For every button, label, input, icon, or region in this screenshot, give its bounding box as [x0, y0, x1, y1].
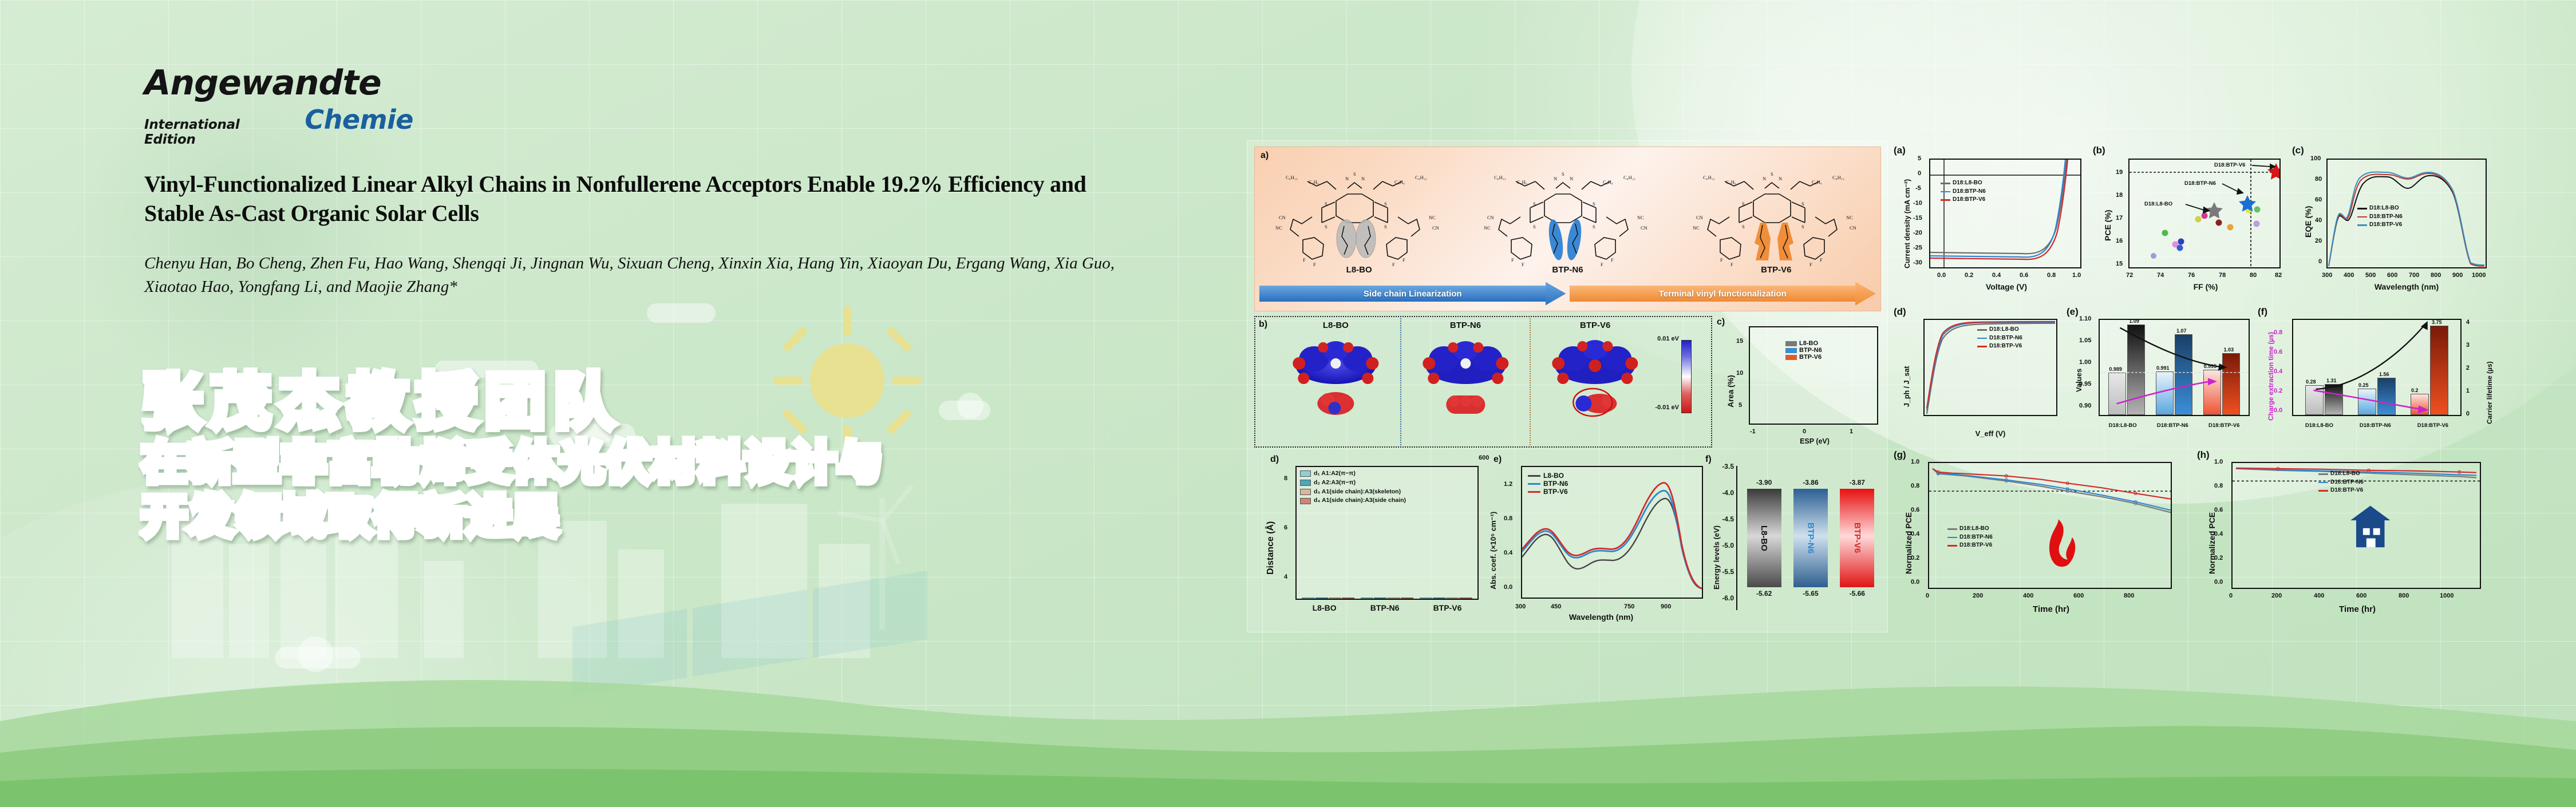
graphical-abstract-figure: a) [1247, 140, 2495, 638]
figure-left-group: a) [1247, 140, 1888, 632]
esp-column-btpv6: BTP-V6 [1530, 318, 1660, 445]
arrow-terminal-vinyl-functionalization: Terminal vinyl functionalization [1570, 281, 1876, 306]
material-label: BTP-V6 [1852, 523, 1862, 553]
panel-b2-ytick: 16 [2116, 238, 2123, 244]
panel-e-xtick: 600 [1479, 454, 1489, 461]
panel-f2-trend-arrows [2293, 320, 2460, 415]
panel-h-ytick: 0.2 [2214, 555, 2223, 561]
svg-text:CN: CN [1487, 215, 1494, 220]
panel-g-ytick: 0.6 [1911, 507, 1919, 513]
legend-item: D18:BTP-N6 [1947, 533, 1993, 542]
panel-g-ytick: 0.0 [1911, 579, 1919, 586]
panel-a2-curves [1930, 160, 2080, 267]
panel-b2-xtick: 72 [2126, 272, 2133, 279]
panel-d2-ylabel: J_ph / J_sat [1903, 366, 1911, 407]
panel-h-plot-area: D18:L8-BO D18:BTP-N6 D18:BTP-V6 [2231, 462, 2481, 589]
legend-item: D18:BTP-V6 [2357, 221, 2403, 230]
panel-g-ylabel: Normalized PCE [1904, 512, 1913, 574]
panel-d-ytick: 4 [1284, 573, 1287, 580]
panel-c2-xtick: 400 [2344, 272, 2354, 279]
ytick: -4.0 [1722, 489, 1734, 497]
svg-text:N: N [1361, 176, 1365, 181]
svg-text:S: S [1742, 224, 1745, 230]
panel-c2-ytick: 20 [2315, 238, 2322, 244]
panel-e2-tag: (e) [2067, 306, 2079, 318]
author-list: Chenyu Han, Bo Cheng, Zhen Fu, Hao Wang,… [144, 252, 1117, 299]
panel-a2-legend: D18:L8-BO D18:BTP-N6 D18:BTP-V6 [1941, 179, 1986, 204]
svg-text:S: S [1353, 171, 1356, 177]
journal-name: Angewandte [144, 66, 413, 100]
panel-h-xtick: 200 [2271, 592, 2282, 599]
panel-b2-ylabel: PCE (%) [2103, 210, 2112, 241]
panel-c-xlabel: ESP (eV) [1749, 437, 1880, 445]
svg-text:S: S [1533, 224, 1536, 230]
svg-text:F: F [1303, 257, 1306, 263]
molecule-name: L8-BO [1267, 265, 1451, 275]
panel-a2-ytick: -5 [1915, 185, 1921, 192]
journal-logo: Angewandte International Edition Chemie [144, 66, 413, 147]
svg-text:N: N [1554, 176, 1557, 181]
panel-c-ytick: 15 [1736, 338, 1743, 345]
arrow-side-chain-linearization: Side chain Linearization [1259, 281, 1566, 306]
panel-f-bars: -3.90L8-BO-5.62-3.86BTP-N6-5.65-3.87BTP-… [1741, 469, 1880, 607]
ytick: -5.0 [1722, 541, 1734, 549]
panel-h-xtick: 600 [2356, 592, 2366, 599]
category-label: D18:L8-BO [2305, 422, 2333, 429]
panel-c2-ytick: 60 [2315, 196, 2322, 203]
svg-text:S: S [1742, 201, 1745, 207]
svg-text:F: F [1820, 257, 1823, 263]
category-label: D18:BTP-V6 [2417, 422, 2448, 429]
panel-g-xtick: 600 [2073, 592, 2084, 599]
panel-e-absorption-chart: e) Abs. coef. (×10⁵ cm⁻¹) 1.2 0.8 0.4 0.… [1479, 454, 1708, 626]
panel-d2-xlabel: V_eff (V) [1923, 429, 2057, 438]
ytick: -6.0 [1722, 594, 1734, 602]
legend-item: D18:L8-BO [1941, 179, 1986, 188]
panel-d-distance-chart: d) Distance (Å) 8 6 4 d₁ A1:A2(π−π) d₂ A… [1254, 454, 1483, 626]
panel-c-ytick: 10 [1736, 370, 1743, 377]
energy-level-bar: -3.90L8-BO-5.62 [1747, 489, 1781, 587]
legend-item: L8-BO [1528, 472, 1568, 480]
page-title: Vinyl-Functionalized Linear Alkyl Chains… [144, 169, 1152, 228]
material-label: L8-BO [1759, 525, 1769, 551]
category-label: D18:L8-BO [2109, 422, 2137, 429]
lumo-value: -3.86 [1803, 478, 1818, 486]
panel-f2-ylabel-right: Carrier lifetime (µs) [2486, 361, 2494, 424]
svg-text:F: F [1511, 257, 1514, 263]
panel-c2-legend: D18:L8-BO D18:BTP-N6 D18:BTP-V6 [2357, 204, 2403, 230]
panel-a2-ytick: 0 [1918, 170, 1921, 177]
panel-c2-tag: (c) [2292, 145, 2304, 156]
panel-f2-ytick-left: 0.0 [2274, 407, 2282, 414]
lumo-value: -3.90 [1756, 478, 1772, 486]
category-label: L8-BO [1313, 603, 1337, 612]
legend-item: L8-BO [1785, 340, 1822, 347]
panel-h-ytick: 0.8 [2214, 482, 2223, 489]
legend-item: D18:BTP-V6 [2318, 486, 2364, 495]
legend-item: d₂ A2:A3(π−π) [1300, 478, 1406, 488]
panel-g-ytick: 0.4 [1911, 531, 1919, 537]
svg-text:C₆H₁₃: C₆H₁₃ [1623, 175, 1635, 180]
panel-f-plot-area: -3.90L8-BO-5.62-3.86BTP-N6-5.65-3.87BTP-… [1741, 469, 1880, 607]
legend-item: D18:BTP-N6 [2357, 213, 2403, 221]
panel-f2-plot-area: 0.281.310.251.560.23.75 [2292, 319, 2462, 416]
esp-surface-btpv6 [1531, 330, 1660, 425]
legend-item: D18:BTP-N6 [1977, 334, 2022, 343]
homo-value: -5.66 [1850, 590, 1865, 598]
svg-text:S: S [1593, 224, 1595, 230]
panel-a2-xtick: 0.8 [2047, 272, 2056, 279]
panel-a2-plot-area: D18:L8-BO D18:BTP-N6 D18:BTP-V6 [1929, 159, 2081, 268]
ytick: -4.5 [1722, 515, 1734, 523]
panel-h-ytick: 1.0 [2214, 458, 2223, 465]
panel-a2-ytick: -25 [1913, 244, 1922, 251]
panel-b2-ytick: 18 [2116, 192, 2123, 199]
flame-icon [2049, 519, 2075, 567]
legend-item: d₄ A1(side chain):A3(side chain) [1300, 496, 1406, 505]
panel-c2-plot-area: D18:L8-BO D18:BTP-N6 D18:BTP-V6 [2326, 159, 2487, 268]
panel-h-xtick: 400 [2314, 592, 2324, 599]
panel-g-ytick: 0.8 [1911, 482, 1919, 489]
panel-e2-trend-arrows [2100, 320, 2249, 415]
panel-c2-xtick: 1000 [2472, 272, 2486, 279]
ytick: -3.5 [1722, 462, 1734, 470]
svg-text:CN: CN [1279, 215, 1286, 220]
panel-e-ytick: 0.0 [1504, 584, 1512, 591]
svg-text:C₄H₉: C₄H₉ [1394, 179, 1405, 185]
panel-h-shelf-stability: (h) Normalized PCE D18:L8-BO D18:BTP-N6 … [2195, 449, 2492, 621]
distance-bar-group [1302, 598, 1354, 599]
panel-e-xtick: 450 [1551, 603, 1561, 610]
svg-text:S: S [1593, 201, 1595, 207]
panel-b2-xtick: 82 [2275, 272, 2282, 279]
material-label: BTP-N6 [1805, 523, 1815, 553]
panel-f-energy-levels: f) Energy levels (eV) -3.5 -4.0 -4.5 -5.… [1705, 454, 1883, 626]
panel-a2-xlabel: Voltage (V) [1929, 282, 2084, 291]
legend-item: D18:BTP-V6 [1941, 196, 1986, 204]
panel-f2-ytick-right: 1 [2466, 387, 2470, 394]
legend-item: BTP-N6 [1528, 480, 1568, 488]
ytick: -5.5 [1722, 568, 1734, 576]
svg-text:C₆H₁₃: C₆H₁₃ [1286, 175, 1298, 180]
esp-surface-l8bo [1271, 330, 1400, 425]
svg-text:C₄H₉: C₄H₉ [1812, 179, 1822, 185]
panel-d2-photocurrent: (d) J_ph / J_sat D18:L8-BO D18:BTP-N6 D1… [1891, 306, 2063, 444]
panel-c2-ytick: 40 [2315, 217, 2322, 224]
svg-text:C₄H₉: C₄H₉ [1603, 179, 1613, 185]
svg-text:C₄H₉: C₄H₉ [1726, 179, 1736, 185]
svg-text:F: F [1611, 257, 1614, 263]
legend-item: D18:BTP-N6 [1941, 188, 1986, 196]
molecule-name: BTP-N6 [1476, 265, 1659, 275]
panel-h-xtick: 0 [2229, 592, 2233, 599]
svg-text:D18:BTP-N6: D18:BTP-N6 [2184, 180, 2216, 187]
panel-f-yticks: -3.5 -4.0 -4.5 -5.0 -5.5 -6.0 [1710, 462, 1736, 614]
panel-c-ylabel: Area (%) [1726, 375, 1735, 408]
panel-h-xlabel: Time (hr) [2231, 604, 2483, 614]
design-strategy-arrows: Side chain Linearization Terminal vinyl … [1259, 281, 1876, 306]
panel-c-esp-histogram: c) Area (%) 15 10 5 L8-BO BTP-N6 BTP-V6 … [1717, 316, 1882, 449]
panel-c2-curves [2328, 160, 2486, 267]
panel-e-ytick: 1.2 [1504, 481, 1512, 488]
panel-a-tag: a) [1261, 151, 1269, 161]
panel-f2-ytick-left: 0.2 [2274, 387, 2282, 394]
panel-d-plot-area: d₁ A1:A2(π−π) d₂ A2:A3(π−π) d₃ A1(side c… [1295, 466, 1479, 600]
panel-f2-ytick-right: 2 [2466, 365, 2470, 371]
panel-e-tag: e) [1494, 454, 1502, 465]
category-label: D18:BTP-V6 [2208, 422, 2239, 429]
panel-a2-xtick: 1.0 [2072, 272, 2081, 279]
panel-a2-xtick: 0.4 [1992, 272, 2001, 279]
legend-item: BTP-V6 [1785, 354, 1822, 361]
panel-c-legend: L8-BO BTP-N6 BTP-V6 [1785, 340, 1822, 361]
panel-c-xtick: -1 [1750, 428, 1756, 435]
homo-value: -5.65 [1803, 590, 1818, 598]
house-icon [2350, 506, 2390, 548]
panel-e2-ytick: 1.05 [2079, 337, 2091, 344]
panel-e2-ytick: 0.95 [2079, 381, 2091, 387]
panel-f-axis [1736, 466, 1737, 610]
panel-e2-values-bars: (e) Values 0.9891.090.9911.070.9951.03 1… [2065, 306, 2254, 444]
svg-text:S: S [1384, 201, 1387, 207]
panel-c2-xlabel: Wavelength (nm) [2326, 282, 2487, 291]
panel-c2-eqe-curve: (c) EQE (%) D18:L8-BO D18:BTP-N6 D18:BTP… [2290, 145, 2491, 298]
category-label: D18:BTP-N6 [2157, 422, 2188, 429]
panel-b2-plot-area: D18:BTP-V6 D18:BTP-N6 D18:L8-BO [2128, 159, 2281, 268]
esp-color-scale [1681, 340, 1692, 413]
figure-right-group: (a) Current density (mA cm⁻²) D18:L8-BO … [1891, 140, 2495, 632]
panel-f2-ytick-right: 0 [2466, 410, 2470, 417]
esp-surface-btpn6 [1401, 330, 1530, 425]
svg-text:S: S [1325, 201, 1327, 207]
headline-block: 张茂杰教授团队 在新型非富勒烯受体光伏材料设计与 开发领域取得新进展 [142, 372, 884, 548]
svg-text:N: N [1779, 176, 1782, 181]
panel-d-xlabels: L8-BO BTP-N6 BTP-V6 [1295, 603, 1479, 612]
molecule-name: BTP-V6 [1685, 265, 1868, 275]
svg-text:NC: NC [1846, 215, 1853, 220]
panel-d2-plot-area: D18:L8-BO D18:BTP-N6 D18:BTP-V6 [1923, 319, 2057, 416]
journal-series: Chemie [305, 104, 413, 135]
esp-title: BTP-V6 [1531, 321, 1660, 330]
panel-f2-ytick-left: 0.6 [2274, 349, 2282, 355]
panel-e-ytick: 0.8 [1504, 515, 1512, 522]
svg-text:CN: CN [1850, 225, 1856, 231]
panel-g-ytick: 0.2 [1911, 555, 1919, 561]
svg-text:N: N [1763, 176, 1766, 181]
category-label: D18:BTP-N6 [2360, 422, 2391, 429]
panel-b2-xlabel: FF (%) [2128, 282, 2283, 291]
panel-h-tag: (h) [2197, 449, 2210, 461]
panel-b2-xtick: 74 [2157, 272, 2164, 279]
legend-item: D18:BTP-N6 [2318, 478, 2364, 487]
panel-c-xtick: 0 [1803, 428, 1806, 435]
legend-item: D18:BTP-V6 [1947, 541, 1993, 550]
svg-text:S: S [1325, 224, 1327, 230]
svg-text:NC: NC [1693, 225, 1700, 231]
panel-c-tag: c) [1717, 317, 1725, 327]
journal-edition: International Edition [144, 117, 285, 147]
svg-text:C₆H₁₃: C₆H₁₃ [1415, 175, 1427, 180]
panel-g-thermal-stability: (g) Normalized PCE D18:L8-BO D18:BTP-N6 … [1891, 449, 2183, 621]
distance-bar-group [1420, 598, 1472, 599]
panel-g-legend: D18:L8-BO D18:BTP-N6 D18:BTP-V6 [1947, 525, 1993, 550]
hill-band [0, 635, 2576, 807]
category-label: BTP-V6 [1433, 603, 1462, 612]
panel-h-xtick: 1000 [2440, 592, 2453, 599]
esp-title: L8-BO [1271, 321, 1400, 330]
svg-text:F: F [1720, 257, 1723, 263]
panel-b2-xtick: 80 [2250, 272, 2257, 279]
arrow-label: Terminal vinyl functionalization [1659, 289, 1787, 299]
panel-b-tag: b) [1259, 319, 1267, 330]
panel-g-xtick: 800 [2124, 592, 2134, 599]
svg-text:C₆H₁₃: C₆H₁₃ [1832, 175, 1844, 180]
esp-column-btpn6: BTP-N6 [1400, 318, 1530, 445]
panel-c2-xtick: 900 [2452, 272, 2463, 279]
legend-item: d₁ A1:A2(π−π) [1300, 469, 1406, 478]
panel-g-xtick: 400 [2023, 592, 2033, 599]
panel-a2-ylabel: Current density (mA cm⁻²) [1903, 179, 1911, 268]
panel-h-legend: D18:L8-BO D18:BTP-N6 D18:BTP-V6 [2318, 470, 2364, 495]
panel-d2-legend: D18:L8-BO D18:BTP-N6 D18:BTP-V6 [1977, 326, 2022, 351]
panel-a2-xtick: 0.6 [2020, 272, 2028, 279]
svg-text:D18:L8-BO: D18:L8-BO [2144, 201, 2172, 207]
esp-scale-min: -0.01 eV [1655, 404, 1679, 411]
energy-level-bar: -3.87BTP-V6-5.66 [1840, 489, 1874, 587]
esp-column-l8bo: L8-BO [1271, 318, 1400, 445]
svg-text:NC: NC [1484, 225, 1491, 231]
panel-d-ytick: 8 [1284, 475, 1287, 482]
panel-e2-categories: D18:L8-BO D18:BTP-N6 D18:BTP-V6 [2099, 422, 2250, 429]
esp-title: BTP-N6 [1401, 321, 1530, 330]
esp-scale-max: 0.01 eV [1657, 335, 1679, 342]
svg-text:CN: CN [1432, 225, 1439, 231]
legend-item: D18:L8-BO [2318, 470, 2364, 478]
molecule-l8bo: C₆H₁₃C₄H₉ C₄H₉C₆H₁₃ NSN CNNC NCCN FF FF … [1267, 167, 1451, 272]
legend-item: BTP-V6 [1528, 488, 1568, 496]
panel-e-ylabel: Abs. coef. (×10⁵ cm⁻¹) [1489, 512, 1498, 590]
panel-c2-ytick: 100 [2310, 155, 2321, 162]
panel-g-ytick: 1.0 [1911, 458, 1919, 465]
panel-c2-ytick: 80 [2315, 176, 2322, 183]
legend-item: D18:L8-BO [1947, 525, 1993, 533]
svg-text:C₆H₁₃: C₆H₁₃ [1494, 175, 1506, 180]
panel-e-xtick: 900 [1661, 603, 1671, 610]
panel-a2-ytick: -15 [1913, 215, 1922, 221]
panel-f2-ytick-right: 3 [2466, 342, 2470, 349]
panel-c2-xtick: 700 [2409, 272, 2419, 279]
panel-e-xtick: 750 [1624, 603, 1634, 610]
svg-text:S: S [1771, 171, 1773, 177]
arrow-label: Side chain Linearization [1364, 289, 1462, 299]
molecule-btpv6: C₆H₁₃C₄H₉ C₄H₉C₆H₁₃ NSN CNNC NCCN FF FF … [1685, 167, 1868, 272]
distance-bar-group [1361, 598, 1413, 599]
panel-d-tag: d) [1270, 454, 1279, 465]
panel-a2-ytick: -20 [1913, 230, 1922, 236]
svg-text:S: S [1533, 201, 1536, 207]
panel-f2-ytick-right: 4 [2466, 319, 2470, 326]
panel-a2-ytick: -10 [1913, 200, 1922, 207]
legend-item: D18:BTP-V6 [1977, 342, 2022, 351]
panel-c2-ytick: 0 [2318, 258, 2322, 265]
headline-line-2: 在新型非富勒烯受体光伏材料设计与 [142, 441, 884, 485]
svg-text:C₄H₉: C₄H₉ [1309, 179, 1319, 185]
svg-text:C₄H₉: C₄H₉ [1517, 179, 1527, 185]
molecule-btpn6: C₆H₁₃C₄H₉ C₄H₉C₆H₁₃ NSN CNNC NCCN FF FF … [1476, 167, 1659, 272]
panel-a2-tag: (a) [1894, 145, 1906, 156]
legend-item: D18:L8-BO [2357, 204, 2403, 213]
panel-c2-xtick: 500 [2365, 272, 2376, 279]
panel-h-xtick: 800 [2399, 592, 2409, 599]
panel-g-xtick: 200 [1973, 592, 1983, 599]
panel-a2-jv-curve: (a) Current density (mA cm⁻²) D18:L8-BO … [1891, 145, 2086, 298]
svg-text:CN: CN [1696, 215, 1703, 220]
panel-f2-tag: (f) [2258, 306, 2267, 318]
panel-f2-ytick-left: 0.4 [2274, 368, 2282, 375]
svg-text:NC: NC [1637, 215, 1644, 220]
panel-a-molecular-design: a) [1254, 147, 1881, 311]
svg-text:S: S [1384, 224, 1387, 230]
panel-c2-ylabel: EQE (%) [2304, 206, 2313, 238]
svg-text:N: N [1345, 176, 1349, 181]
lumo-value: -3.87 [1850, 478, 1865, 486]
panel-c-xtick: 1 [1850, 428, 1853, 435]
panel-d2-tag: (d) [1894, 306, 1906, 318]
legend-item: D18:L8-BO [1977, 326, 2022, 334]
panel-a2-xtick: 0.0 [1937, 272, 1946, 279]
panel-b2-tag: (b) [2093, 145, 2105, 156]
panel-b2-ytick: 19 [2116, 169, 2123, 176]
panel-d-ylabel: Distance (Å) [1266, 521, 1276, 575]
svg-text:S: S [1562, 171, 1564, 177]
panel-d-ytick: 6 [1284, 524, 1287, 531]
panel-e-xtick: 300 [1515, 603, 1526, 610]
svg-text:NC: NC [1429, 215, 1436, 220]
svg-text:S: S [1801, 224, 1804, 230]
headline-line-3: 开发领域取得新进展 [142, 495, 884, 539]
energy-level-bar: -3.86BTP-N6-5.65 [1793, 489, 1828, 587]
panel-g-tag: (g) [1894, 449, 1906, 461]
svg-text:C₆H₁₃: C₆H₁₃ [1703, 175, 1715, 180]
legend-item: d₃ A1(side chain):A3(skeleton) [1300, 488, 1406, 497]
panel-b2-ytick: 17 [2116, 215, 2123, 221]
panel-b2-points: D18:BTP-V6 D18:BTP-N6 D18:L8-BO [2129, 160, 2279, 267]
panel-f2-categories: D18:L8-BO D18:BTP-N6 D18:BTP-V6 [2292, 422, 2462, 429]
panel-a2-xtick: 0.2 [1965, 272, 1973, 279]
panel-c2-xtick: 300 [2322, 272, 2332, 279]
svg-text:CN: CN [1641, 225, 1647, 231]
svg-text:N: N [1570, 176, 1573, 181]
category-label: BTP-N6 [1370, 603, 1400, 612]
panel-c2-xtick: 800 [2431, 272, 2441, 279]
legend-item: BTP-N6 [1785, 347, 1822, 354]
panel-d-legend: d₁ A1:A2(π−π) d₂ A2:A3(π−π) d₃ A1(side c… [1300, 469, 1406, 505]
panel-h-ytick: 0.0 [2214, 579, 2223, 586]
panel-h-ylabel: Normalized PCE [2207, 512, 2217, 574]
panel-b2-pce-ff-scatter: (b) PCE (%) [2091, 145, 2285, 298]
panel-e2-ytick: 1.10 [2079, 315, 2091, 322]
panel-g-xtick: 0 [1926, 592, 1929, 599]
panel-a2-ytick: 5 [1918, 155, 1921, 162]
panel-h-ytick: 0.6 [2214, 507, 2223, 513]
panel-a2-ytick: -30 [1913, 259, 1922, 266]
panel-e2-ytick: 0.90 [2079, 402, 2091, 409]
panel-c-ytick: 5 [1739, 402, 1742, 409]
panel-f2-extraction-lifetime: (f) Charge extraction time (µs) Carrier … [2257, 306, 2491, 444]
panel-g-plot-area: D18:L8-BO D18:BTP-N6 D18:BTP-V6 [1928, 462, 2172, 589]
homo-value: -5.62 [1756, 590, 1772, 598]
svg-text:S: S [1801, 201, 1804, 207]
